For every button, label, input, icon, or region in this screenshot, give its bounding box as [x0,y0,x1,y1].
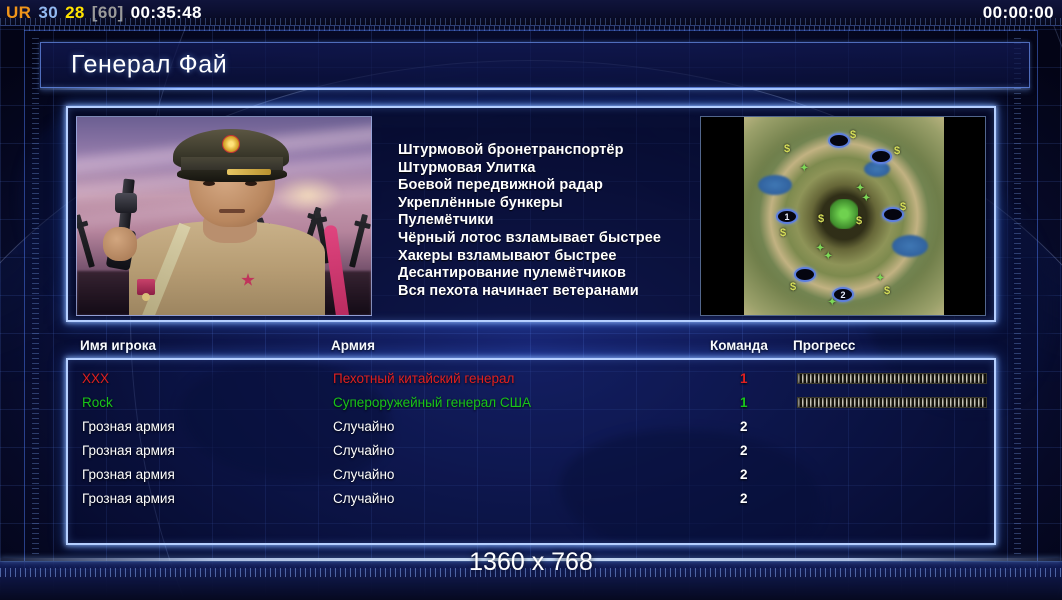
player-team: 2 [740,443,748,458]
general-info-panel-body: Штурмовой бронетранспортёр Штурмовая Ули… [66,106,996,322]
player-army: Случайно [333,467,394,482]
player-list-panel: XXXПехотный китайский генерал1RockСуперо… [66,358,996,545]
chest-medal-icon [137,279,155,295]
progress-bar [797,373,987,384]
minimap-oil-derrick-icon: $ [884,285,890,297]
ruler-left [32,34,39,554]
game-lobby-screen: UR 30 28 [60] 00:35:48 00:00:00 Генерал … [0,0,1062,600]
column-header-army: Армия [331,338,375,353]
sunset-glow [273,175,343,215]
player-team: 1 [740,371,748,386]
minimap-center-structures [830,199,858,229]
player-army: Случайно [333,443,394,458]
player-army: Случайно [333,491,394,506]
ability-item: Чёрный лотос взламывает быстрее [398,230,698,248]
player-progress [797,469,987,480]
player-army: Супероружейный генерал США [333,395,531,410]
player-name: Грозная армия [82,419,175,434]
player-army: Случайно [333,419,394,434]
ability-item: Десантирование пулемётчиков [398,265,698,283]
player-team: 2 [740,467,748,482]
ability-item: Боевой передвижной радар [398,177,698,195]
minimap-start-position [794,267,816,282]
ability-item: Пулемётчики [398,212,698,230]
general-portrait [76,116,372,316]
player-progress [797,493,987,504]
minimap-oil-derrick-icon: $ [780,227,786,239]
minimap-start-position: 1 [776,209,798,224]
minimap-oil-derrick-icon: $ [894,145,900,157]
cap-gold-braid [227,169,271,175]
player-list-headers: Имя игрока Армия Команда Прогресс [66,338,996,360]
minimap-water-2 [892,235,928,257]
minimap-oil-derrick-icon: $ [856,215,862,227]
player-progress [797,397,987,408]
column-header-name: Имя игрока [80,338,156,353]
minimap-tech-structure-icon: ✦ [876,273,884,284]
minimap-preview[interactable]: 12$$$$$$$$$✦✦✦✦✦✦✦ [700,116,986,316]
ability-item: Штурмовой бронетранспортёр [398,142,698,160]
ability-item: Вся пехота начинает ветеранами [398,283,698,301]
ability-item: Укреплённые бункеры [398,195,698,213]
ability-item: Штурмовая Улитка [398,160,698,178]
header-band: Генерал Фай [40,42,1030,88]
table-row[interactable]: RockСупероружейный генерал США1 [68,390,994,414]
table-row[interactable]: Грозная армияСлучайно2 [68,438,994,462]
table-row[interactable]: Грозная армияСлучайно2 [68,486,994,510]
cap-emblem-icon [222,135,240,153]
minimap-tech-structure-icon: ✦ [824,251,832,262]
top-status-bar: UR 30 28 [60] 00:35:48 00:00:00 [0,0,1062,26]
header-underline [40,88,1030,90]
hand [103,227,137,261]
player-name: Грозная армия [82,443,175,458]
minimap-tech-structure-icon: ✦ [800,163,808,174]
player-team: 2 [740,419,748,434]
player-name: Грозная армия [82,467,175,482]
minimap-oil-derrick-icon: $ [790,281,796,293]
table-row[interactable]: XXXПехотный китайский генерал1 [68,366,994,390]
player-name: XXX [82,371,109,386]
mouth [219,209,245,213]
player-progress [797,445,987,456]
player-army: Пехотный китайский генерал [333,371,514,386]
background-rifle-4 [349,214,368,268]
minimap-start-position [870,149,892,164]
minimap-oil-derrick-icon: $ [818,213,824,225]
minimap-oil-derrick-icon: $ [900,201,906,213]
player-team: 2 [740,491,748,506]
minimap-terrain: 12$$$$$$$$$✦✦✦✦✦✦✦ [744,117,944,316]
player-rows-container: XXXПехотный китайский генерал1RockСуперо… [68,366,994,510]
page-title: Генерал Фай [71,51,227,80]
ruler-right [1014,34,1021,554]
minimap-tech-structure-icon: ✦ [862,193,870,204]
ability-item: Хакеры взламывают быстрее [398,248,698,266]
resolution-label: 1360 x 768 [0,548,1062,577]
player-name: Rock [82,395,113,410]
progress-bar [797,397,987,408]
minimap-water-1 [758,175,792,195]
topbar-tick-ruler [0,18,1062,25]
column-header-team: Команда [710,338,768,353]
player-team: 1 [740,395,748,410]
minimap-oil-derrick-icon: $ [784,143,790,155]
player-name: Грозная армия [82,491,175,506]
column-header-progress: Прогресс [793,338,855,353]
table-row[interactable]: Грозная армияСлучайно2 [68,462,994,486]
minimap-oil-derrick-icon: $ [850,129,856,141]
revolver-cylinder [115,193,137,213]
general-abilities-list: Штурмовой бронетранспортёр Штурмовая Ули… [398,142,698,300]
minimap-tech-structure-icon: ✦ [828,297,836,308]
table-row[interactable]: Грозная армияСлучайно2 [68,414,994,438]
player-progress [797,421,987,432]
minimap-start-position [828,133,850,148]
player-progress [797,373,987,384]
general-info-panel: Штурмовой бронетранспортёр Штурмовая Ули… [66,106,996,322]
